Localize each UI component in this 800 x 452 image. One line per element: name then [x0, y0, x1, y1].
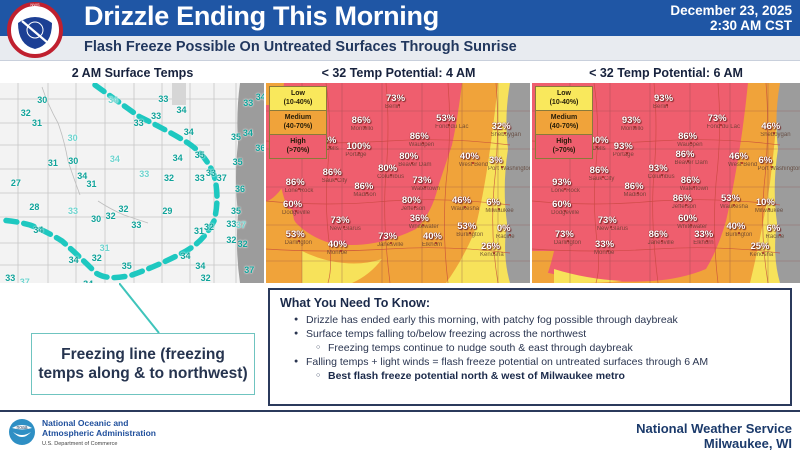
temp-observation: 36: [255, 143, 264, 153]
probability-label: 73%: [412, 175, 431, 186]
city-name: Portage: [345, 152, 366, 158]
probability-label: 36%: [410, 213, 429, 224]
probability-label: 25%: [750, 241, 769, 252]
legend-low: Low (10-40%): [536, 87, 592, 111]
city-name: Sauk City: [589, 176, 615, 182]
page-title: Drizzle Ending This Morning: [84, 1, 439, 32]
city-name: Darlington: [554, 240, 581, 246]
noaa-line-3: U.S. Department of Commerce: [42, 439, 156, 449]
wynk-heading: What You Need To Know:: [280, 296, 780, 310]
legend-low-range: (10-40%): [550, 99, 579, 106]
city-name: Montello: [351, 126, 374, 132]
probability-label: 6%: [486, 197, 500, 208]
temp-observation: 32: [164, 173, 174, 183]
probability-label: 86%: [625, 181, 644, 192]
temp-observation: 33: [134, 118, 144, 128]
city-name: Racine: [496, 234, 515, 240]
panel-title-6am: < 32 Temp Potential: 6 AM: [532, 66, 800, 80]
header-time: 2:30 AM CST: [670, 18, 792, 33]
probability-label: 86%: [410, 131, 429, 142]
city-name: Madison: [353, 192, 376, 198]
nws-office-name: National Weather Service: [636, 421, 792, 436]
temp-observation: 33: [243, 98, 253, 108]
city-name: Montello: [621, 126, 644, 132]
temp-observation: 31: [100, 243, 110, 253]
temp-observation: 34: [110, 154, 120, 164]
city-name: West Bend: [728, 162, 757, 168]
temp-observation: 37: [244, 265, 254, 275]
probability-legend-4am: Low (10-40%) Medium (40-70%) High (>70%): [269, 86, 327, 159]
city-name: Watertown: [680, 186, 708, 192]
city-name: Lone Rock: [551, 188, 580, 194]
prob-map-6am[interactable]: Low (10-40%) Medium (40-70%) High (>70%)…: [532, 83, 800, 283]
temp-observation: 32: [21, 108, 31, 118]
temp-observation: 34: [69, 255, 79, 265]
freezing-line-overlay: [0, 83, 264, 283]
temp-observation: 32: [204, 222, 214, 232]
probability-label: 86%: [673, 193, 692, 204]
city-name: Elkhorn: [422, 242, 442, 248]
wynk-item: Drizzle has ended early this morning, wi…: [296, 313, 780, 327]
probability-label: 80%: [378, 163, 397, 174]
probability-label: 60%: [678, 213, 697, 224]
temp-observation: 27: [11, 178, 21, 188]
freezing-line-callout: Freezing line (freezing temps along & to…: [31, 333, 255, 395]
probability-label: 73%: [378, 231, 397, 242]
legend-low-label: Low: [291, 90, 305, 97]
city-name: Watertown: [411, 186, 439, 192]
city-name: Columbus: [648, 174, 675, 180]
city-name: Burlington: [456, 232, 483, 238]
temp-observation: 37: [20, 277, 30, 283]
probability-label: 26%: [481, 241, 500, 252]
temp-observation: 33: [131, 220, 141, 230]
header-date: December 23, 2025: [670, 3, 792, 18]
temp-observation: 30: [37, 95, 47, 105]
page-subtitle: Flash Freeze Possible On Untreated Surfa…: [84, 39, 517, 55]
city-name: Sheboygan: [491, 132, 521, 138]
city-name: Port Washington: [488, 166, 530, 172]
temp-observation: 33: [195, 173, 205, 183]
temp-observation: 34: [243, 128, 253, 138]
temp-observation: 30: [68, 156, 78, 166]
wynk-item: Falling temps + light winds = flash free…: [296, 355, 780, 369]
probability-label: 80%: [402, 195, 421, 206]
wynk-item: Best flash freeze potential north & west…: [318, 369, 780, 383]
temp-observation: 33: [158, 94, 168, 104]
temp-observation: 35: [122, 261, 132, 271]
temp-observation: 31: [194, 226, 204, 236]
city-name: Jefferson: [401, 206, 426, 212]
legend-low-label: Low: [557, 90, 571, 97]
temp-observation: 30: [68, 133, 78, 143]
temp-observation: 34: [256, 92, 264, 102]
probability-label: 73%: [708, 113, 727, 124]
temp-observation: 36: [235, 184, 245, 194]
probability-label: 80%: [399, 151, 418, 162]
city-name: Kenosha: [749, 252, 773, 258]
city-name: Whitewater: [409, 224, 439, 230]
city-name: Milwaukee: [755, 208, 783, 214]
temp-observation: 32: [92, 253, 102, 263]
noaa-line-1: National Oceanic and: [42, 418, 128, 428]
city-name: New Glarus: [597, 226, 628, 232]
probability-label: 86%: [286, 177, 305, 188]
probability-label: 46%: [729, 151, 748, 162]
temp-observation: 32: [238, 239, 248, 249]
city-name: Waukesha: [451, 206, 479, 212]
temp-observation: 33: [68, 206, 78, 216]
city-name: Darlington: [285, 240, 312, 246]
legend-low: Low (10-40%): [270, 87, 326, 111]
probability-label: 93%: [614, 141, 633, 152]
city-name: Lone Rock: [285, 188, 314, 194]
temp-observation: 34: [83, 279, 93, 283]
svg-text:NWS: NWS: [30, 2, 40, 7]
city-name: Wauopen: [677, 142, 702, 148]
probability-label: 40%: [328, 239, 347, 250]
legend-medium-label: Medium: [551, 114, 577, 121]
probability-label: 86%: [681, 175, 700, 186]
city-name: Burlington: [725, 232, 752, 238]
probability-label: 3%: [489, 155, 503, 166]
probability-label: 33%: [595, 239, 614, 250]
nws-office-city: Milwaukee, WI: [636, 436, 792, 451]
what-you-need-to-know-box: What You Need To Know: Drizzle has ended…: [268, 288, 792, 406]
temp-observation: 29: [162, 206, 172, 216]
temp-observation: 35: [195, 150, 205, 160]
legend-medium: Medium (40-70%): [270, 111, 326, 135]
probability-label: 0%: [497, 223, 511, 234]
wynk-list: Drizzle has ended early this morning, wi…: [280, 313, 780, 383]
temp-observation: 30: [91, 214, 101, 224]
temp-observation: 35: [233, 157, 243, 167]
prob-map-4am[interactable]: Low (10-40%) Medium (40-70%) High (>70%)…: [266, 83, 530, 283]
legend-high: High (>70%): [270, 135, 326, 158]
wynk-item: Freezing temps continue to nudge south &…: [318, 341, 780, 355]
city-name: Janesville: [377, 242, 403, 248]
city-name: Milwaukee: [485, 208, 513, 214]
probability-label: 53%: [721, 193, 740, 204]
legend-medium: Medium (40-70%): [536, 111, 592, 135]
city-name: Berlin: [385, 104, 400, 110]
city-name: New Glarus: [330, 226, 361, 232]
city-name: Kenosha: [480, 252, 504, 258]
probability-label: 33%: [694, 229, 713, 240]
probability-label: 53%: [457, 221, 476, 232]
probability-label: 53%: [286, 229, 305, 240]
legend-high-range: (>70%): [287, 147, 310, 154]
probability-label: 46%: [761, 121, 780, 132]
city-name: Dodgeville: [551, 210, 579, 216]
legend-medium-range: (40-70%): [550, 123, 579, 130]
probability-label: 93%: [649, 163, 668, 174]
noaa-agency-text: National Oceanic and Atmospheric Adminis…: [42, 418, 156, 449]
temp-observation: 34: [195, 261, 205, 271]
wynk-item: Surface temps falling to/below freezing …: [296, 327, 780, 341]
city-name: Fond du Lac: [707, 124, 740, 130]
probability-label: 60%: [283, 199, 302, 210]
probability-legend-6am: Low (10-40%) Medium (40-70%) High (>70%): [535, 86, 593, 159]
city-name: Janesville: [648, 240, 674, 246]
callout-leader-line: [119, 283, 171, 335]
nws-office-text: National Weather Service Milwaukee, WI: [636, 421, 792, 451]
city-name: Beaver Dam: [398, 162, 431, 168]
city-name: Racine: [766, 234, 785, 240]
probability-label: 86%: [675, 149, 694, 160]
city-name: Sheboygan: [760, 132, 790, 138]
svg-text:noaa: noaa: [16, 425, 27, 431]
city-name: Elkhorn: [693, 240, 713, 246]
probability-label: 46%: [452, 195, 471, 206]
temp-observation: 37: [217, 173, 227, 183]
noaa-logo-icon: noaa: [8, 418, 36, 446]
page-footer: noaa National Oceanic and Atmospheric Ad…: [0, 410, 800, 452]
city-name: Dodgeville: [282, 210, 310, 216]
temp-observation: 34: [108, 95, 118, 105]
city-name: Beaver Dam: [674, 160, 707, 166]
probability-label: 73%: [386, 93, 405, 104]
legend-high-label: High: [556, 138, 572, 145]
probability-label: 40%: [726, 221, 745, 232]
probability-label: 86%: [354, 181, 373, 192]
city-name: Wauopen: [409, 142, 434, 148]
city-name: Monroe: [327, 250, 347, 256]
probability-label: 73%: [555, 229, 574, 240]
city-name: Monroe: [594, 250, 614, 256]
surface-temps-map[interactable]: 3032313433343334333330343534363130343435…: [0, 83, 264, 283]
probability-label: 86%: [678, 131, 697, 142]
city-name: Port Washington: [758, 166, 800, 172]
temp-observation: 34: [181, 251, 191, 261]
probability-label: 86%: [649, 229, 668, 240]
probability-label: 100%: [346, 141, 370, 152]
probability-label: 93%: [552, 177, 571, 188]
temp-observation: 28: [29, 202, 39, 212]
probability-label: 40%: [460, 151, 479, 162]
temp-observation: 37: [236, 220, 246, 230]
city-name: West Bend: [459, 162, 488, 168]
temp-observation: 31: [48, 158, 58, 168]
header-datetime: December 23, 2025 2:30 AM CST: [670, 3, 792, 33]
probability-label: 86%: [352, 115, 371, 126]
temp-observation: 35: [231, 132, 241, 142]
temp-observation: 34: [33, 225, 43, 235]
probability-label: 86%: [590, 165, 609, 176]
probability-label: 53%: [436, 113, 455, 124]
temp-observation: 32: [106, 211, 116, 221]
probability-label: 6%: [767, 223, 781, 234]
temp-observation: 33: [206, 168, 216, 178]
legend-medium-range: (40-70%): [284, 123, 313, 130]
city-name: Fond du Lac: [435, 124, 468, 130]
probability-label: 86%: [323, 167, 342, 178]
temp-observation: 31: [86, 179, 96, 189]
city-name: Portage: [613, 152, 634, 158]
city-name: Waukesha: [720, 204, 748, 210]
probability-label: 10%: [756, 197, 775, 208]
legend-high: High (>70%): [536, 135, 592, 158]
city-name: Columbus: [377, 174, 404, 180]
temp-observation: 34: [177, 105, 187, 115]
panel-title-4am: < 32 Temp Potential: 4 AM: [266, 66, 531, 80]
probability-label: 93%: [654, 93, 673, 104]
temp-observation: 31: [32, 118, 42, 128]
temp-observation: 32: [118, 204, 128, 214]
temp-observation: 35: [231, 206, 241, 216]
probability-label: 93%: [622, 115, 641, 126]
temp-observation: 33: [226, 219, 236, 229]
city-name: Madison: [624, 192, 647, 198]
noaa-line-2: Atmospheric Administration: [42, 428, 156, 438]
probability-label: 40%: [423, 231, 442, 242]
nws-seal-icon: NWS: [4, 1, 66, 59]
legend-low-range: (10-40%): [284, 99, 313, 106]
temp-observation: 33: [5, 273, 15, 283]
city-name: Berlin: [653, 104, 668, 110]
probability-label: 60%: [552, 199, 571, 210]
temp-observation: 33: [139, 169, 149, 179]
panel-title-surface-temps: 2 AM Surface Temps: [0, 66, 265, 80]
city-name: Jefferson: [672, 204, 697, 210]
legend-high-label: High: [290, 138, 306, 145]
probability-label: 32%: [492, 121, 511, 132]
legend-medium-label: Medium: [285, 114, 311, 121]
city-name: Sauk City: [322, 178, 348, 184]
probability-label: 73%: [331, 215, 350, 226]
temp-observation: 33: [151, 111, 161, 121]
temp-observation: 32: [226, 235, 236, 245]
temp-observation: 34: [173, 153, 183, 163]
probability-label: 73%: [598, 215, 617, 226]
probability-label: 6%: [759, 155, 773, 166]
temp-observation: 34: [184, 127, 194, 137]
legend-high-range: (>70%): [553, 147, 576, 154]
temp-observation: 32: [201, 273, 211, 283]
